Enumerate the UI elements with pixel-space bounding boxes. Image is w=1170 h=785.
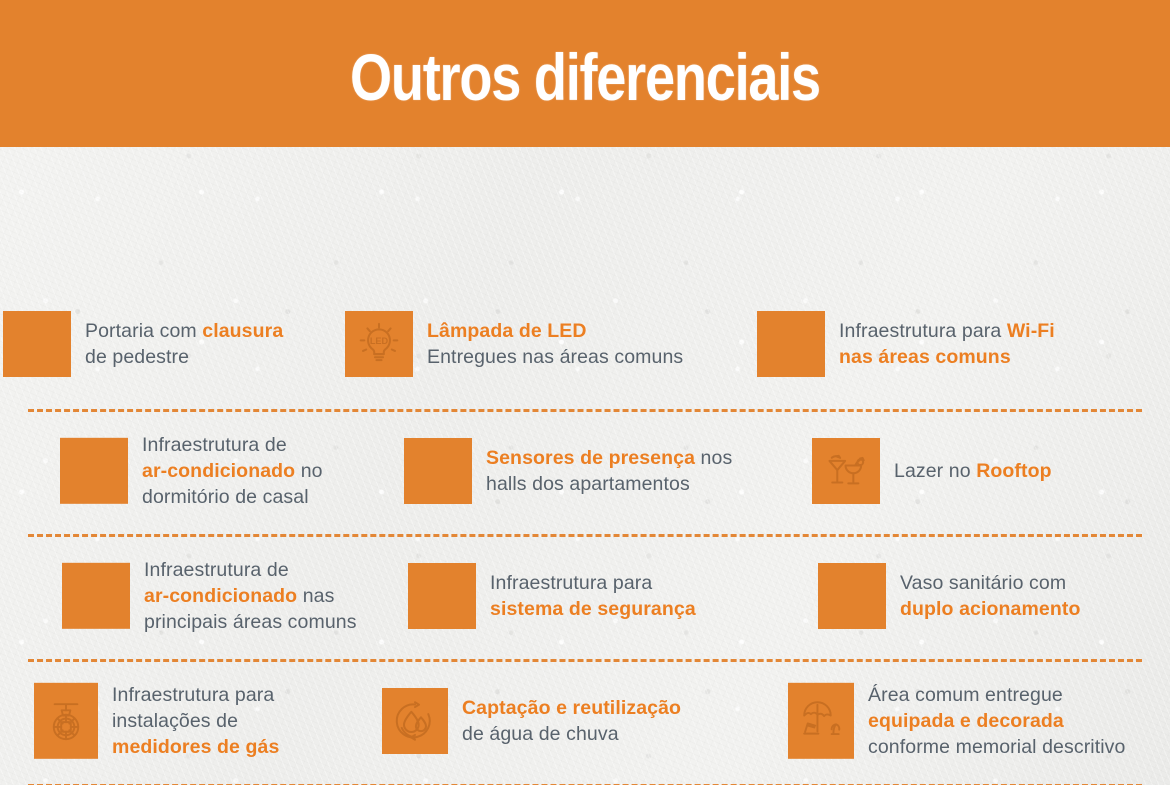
item-text-line: dormitório de casal: [142, 484, 323, 510]
blank-icon: [60, 438, 128, 504]
feature-item[interactable]: Lazer no Rooftop: [812, 438, 1052, 504]
item-text-line: nas áreas comuns: [839, 344, 1055, 370]
svg-text:LED: LED: [370, 336, 389, 346]
cocktail-glasses-icon-glyph: [824, 449, 868, 493]
item-text-normal: Infraestrutura para: [839, 320, 1007, 342]
item-text-line: Infraestrutura para: [112, 682, 279, 708]
feature-row: Infraestrutura dear-condicionado nodormi…: [0, 412, 1170, 530]
feature-item[interactable]: Vaso sanitário comduplo acionamento: [818, 563, 1080, 629]
item-text-line: ar-condicionado nas: [144, 583, 357, 609]
item-text: Lâmpada de LEDEntregues nas áreas comuns: [427, 318, 683, 370]
item-text-normal: Área comum entregue: [868, 684, 1063, 706]
item-text-normal: Infraestrutura de: [142, 434, 287, 456]
item-text-normal: de pedestre: [85, 346, 189, 368]
feature-item[interactable]: LED Lâmpada de LEDEntregues nas áreas co…: [345, 311, 683, 377]
item-text-normal: principais áreas comuns: [144, 611, 357, 633]
item-text-line: halls dos apartamentos: [486, 471, 732, 497]
item-text: Sensores de presença noshalls dos aparta…: [486, 445, 732, 497]
feature-item[interactable]: Infraestrutura parasistema de segurança: [408, 563, 696, 629]
blank-icon: [818, 563, 886, 629]
blank-icon: [404, 438, 472, 504]
item-text-line: Área comum entregue: [868, 682, 1125, 708]
item-text-normal: no: [295, 460, 322, 482]
blank-icon: [757, 311, 825, 377]
blank-icon: [3, 311, 71, 377]
page-title: Outros diferenciais: [105, 44, 1064, 110]
item-text: Infraestrutura dear-condicionado nodormi…: [142, 432, 323, 510]
item-text-line: medidores de gás: [112, 734, 279, 760]
item-text-normal: Entregues nas áreas comuns: [427, 346, 683, 368]
blank-icon: [408, 563, 476, 629]
feature-item[interactable]: Infraestrutura dear-condicionado nodormi…: [60, 432, 323, 510]
feature-row: Infraestrutura parainstalações demedidor…: [0, 662, 1170, 780]
item-text-line: Portaria com clausura: [85, 318, 283, 344]
feature-item[interactable]: Área comum entregueequipada e decoradaco…: [788, 682, 1125, 760]
feature-row: Infraestrutura dear-condicionado nasprin…: [0, 537, 1170, 655]
item-text: Lazer no Rooftop: [894, 458, 1052, 484]
item-text-line: sistema de segurança: [490, 596, 696, 622]
item-text-line: Lazer no Rooftop: [894, 458, 1052, 484]
feature-item[interactable]: Portaria com clausurade pedestre: [3, 311, 283, 377]
item-text-normal: nas: [297, 585, 334, 607]
item-text-line: Infraestrutura de: [142, 432, 323, 458]
item-text-highlight: duplo acionamento: [900, 598, 1080, 620]
led-bulb-icon: LED: [345, 311, 413, 377]
item-text: Infraestrutura para Wi-Finas áreas comun…: [839, 318, 1055, 370]
item-text-normal: dormitório de casal: [142, 486, 309, 508]
beach-umbrella-icon-glyph: [799, 698, 843, 744]
item-text-highlight: clausura: [202, 320, 283, 342]
feature-item[interactable]: Infraestrutura para Wi-Finas áreas comun…: [757, 311, 1055, 377]
item-text: Infraestrutura dear-condicionado nasprin…: [144, 557, 357, 635]
item-text-normal: de água de chuva: [462, 723, 619, 745]
water-recycle-icon: [382, 688, 448, 754]
item-text-highlight: Captação e reutilização: [462, 697, 681, 719]
item-text-highlight: equipada e decorada: [868, 710, 1064, 732]
item-text-normal: nos: [695, 447, 732, 469]
item-text: Portaria com clausurade pedestre: [85, 318, 283, 370]
feature-item[interactable]: Infraestrutura dear-condicionado nasprin…: [62, 557, 357, 635]
item-text-line: ar-condicionado no: [142, 458, 323, 484]
beach-umbrella-icon: [788, 683, 854, 759]
item-text: Vaso sanitário comduplo acionamento: [900, 570, 1080, 622]
item-text-line: Captação e reutilização: [462, 695, 681, 721]
item-text-line: equipada e decorada: [868, 708, 1125, 734]
item-text-line: duplo acionamento: [900, 596, 1080, 622]
item-text: Infraestrutura parasistema de segurança: [490, 570, 696, 622]
item-text-normal: Portaria com: [85, 320, 202, 342]
gas-valve-icon-glyph: [45, 698, 87, 744]
item-text-highlight: sistema de segurança: [490, 598, 696, 620]
item-text-highlight: nas áreas comuns: [839, 346, 1011, 368]
page-header: Outros diferenciais: [0, 0, 1170, 147]
gas-valve-icon: [34, 683, 98, 759]
item-text-highlight: ar-condicionado: [142, 460, 295, 482]
item-text-normal: Infraestrutura de: [144, 559, 289, 581]
item-text-normal: instalações de: [112, 710, 238, 732]
item-text-normal: Infraestrutura para: [112, 684, 274, 706]
item-text-normal: Lazer no: [894, 460, 976, 482]
feature-item[interactable]: Infraestrutura parainstalações demedidor…: [34, 682, 279, 760]
feature-item[interactable]: Captação e reutilizaçãode água de chuva: [382, 688, 681, 754]
item-text-line: principais áreas comuns: [144, 609, 357, 635]
item-text-line: Entregues nas áreas comuns: [427, 344, 683, 370]
item-text: Infraestrutura parainstalações demedidor…: [112, 682, 279, 760]
page-root: Outros diferenciais Portaria com clausur…: [0, 0, 1170, 785]
item-text-line: Sensores de presença nos: [486, 445, 732, 471]
led-bulb-icon-glyph: LED: [357, 322, 401, 366]
cocktail-glasses-icon: [812, 438, 880, 504]
item-text-line: Infraestrutura para: [490, 570, 696, 596]
feature-row: Portaria com clausurade pedestre LED Lâm…: [0, 294, 1170, 394]
blank-icon: [62, 563, 130, 629]
item-text-normal: conforme memorial descritivo: [868, 736, 1125, 758]
item-text-highlight: medidores de gás: [112, 736, 279, 758]
item-text-normal: Vaso sanitário com: [900, 572, 1066, 594]
item-text-highlight: ar-condicionado: [144, 585, 297, 607]
item-text-line: Infraestrutura para Wi-Fi: [839, 318, 1055, 344]
feature-item[interactable]: Sensores de presença noshalls dos aparta…: [404, 438, 732, 504]
item-text-highlight: Sensores de presença: [486, 447, 695, 469]
item-text-highlight: Lâmpada de LED: [427, 320, 587, 342]
item-text-line: Vaso sanitário com: [900, 570, 1080, 596]
item-text: Área comum entregueequipada e decoradaco…: [868, 682, 1125, 760]
item-text-line: de água de chuva: [462, 721, 681, 747]
item-text: Captação e reutilizaçãode água de chuva: [462, 695, 681, 747]
water-recycle-icon-glyph: [393, 699, 437, 743]
item-text-highlight: Wi-Fi: [1007, 320, 1055, 342]
item-text-line: Lâmpada de LED: [427, 318, 683, 344]
item-text-highlight: Rooftop: [976, 460, 1051, 482]
item-text-line: de pedestre: [85, 344, 283, 370]
item-text-line: Infraestrutura de: [144, 557, 357, 583]
item-text-line: conforme memorial descritivo: [868, 734, 1125, 760]
item-text-normal: Infraestrutura para: [490, 572, 652, 594]
item-text-normal: halls dos apartamentos: [486, 473, 690, 495]
item-text-line: instalações de: [112, 708, 279, 734]
